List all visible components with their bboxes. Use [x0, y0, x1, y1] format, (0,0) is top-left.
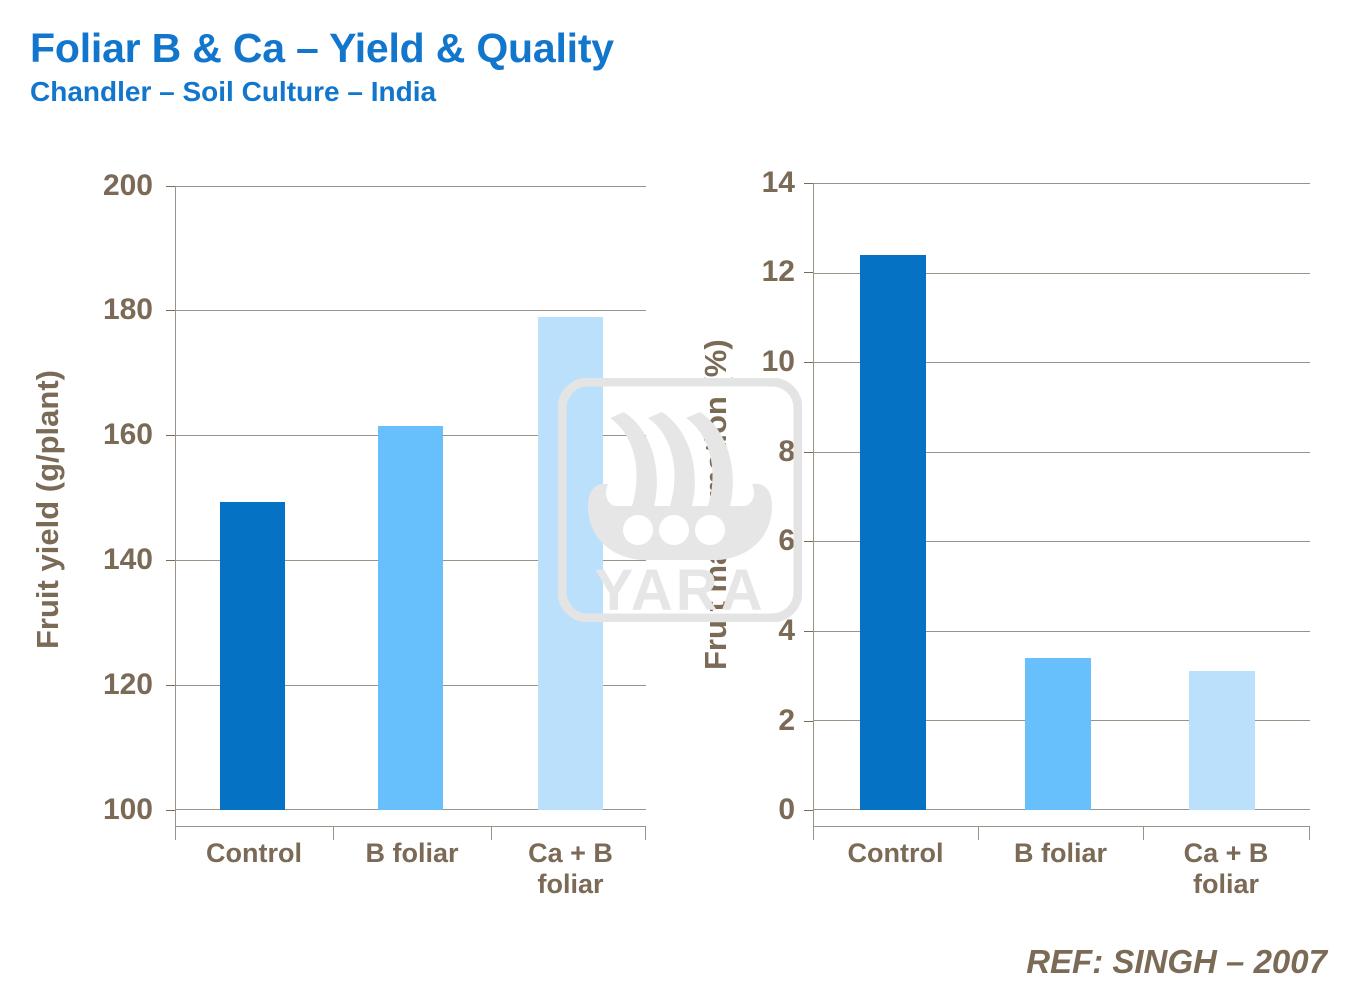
y-tick-label: 140 — [93, 543, 153, 577]
y-tick — [804, 541, 813, 542]
x-tick — [645, 826, 646, 840]
plot-area-right — [813, 183, 1310, 810]
y-tick — [166, 186, 175, 187]
gridline — [175, 186, 646, 187]
y-tick — [804, 362, 813, 363]
y-tick-label: 4 — [735, 614, 795, 648]
y-axis-title-left: Fruit yield (g/plant) — [30, 300, 66, 720]
y-tick — [804, 183, 813, 184]
plot-area-left — [175, 186, 646, 810]
y-tick — [166, 685, 175, 686]
bar-control — [860, 255, 926, 810]
slide-canvas: Foliar B & Ca – Yield & Quality Chandler… — [0, 0, 1363, 1001]
y-tick — [804, 721, 813, 722]
y-axis-line-right — [813, 183, 814, 826]
y-tick — [804, 452, 813, 453]
x-category-label-ca-b-foliar: Ca + B foliar — [498, 838, 643, 900]
y-tick-label: 120 — [93, 668, 153, 702]
y-tick-label: 200 — [93, 169, 153, 203]
gridline — [175, 310, 646, 311]
y-tick — [166, 810, 175, 811]
gridline — [813, 183, 1310, 184]
y-tick-label: 0 — [735, 793, 795, 827]
y-axis-title-right: Fruit malformation (%) — [698, 290, 734, 720]
x-tick — [1143, 826, 1144, 840]
x-category-label-control: Control — [175, 838, 333, 869]
y-tick-label: 6 — [735, 524, 795, 558]
y-tick-label: 160 — [93, 418, 153, 452]
y-tick — [804, 810, 813, 811]
bar-b-foliar — [1025, 658, 1091, 810]
bar-ca-b-foliar — [538, 317, 603, 810]
x-category-label-b-foliar: B foliar — [978, 838, 1143, 869]
x-tick — [1309, 826, 1310, 840]
x-category-label-b-foliar: B foliar — [333, 838, 491, 869]
y-tick-label: 2 — [735, 704, 795, 738]
y-tick-label: 100 — [93, 793, 153, 827]
y-tick — [804, 631, 813, 632]
y-tick — [166, 435, 175, 436]
y-tick — [166, 560, 175, 561]
y-tick-label: 180 — [93, 293, 153, 327]
x-category-label-ca-b-foliar: Ca + B foliar — [1150, 838, 1302, 900]
x-axis-line-right — [813, 826, 1310, 827]
y-tick — [804, 272, 813, 273]
y-axis-line-left — [175, 186, 176, 826]
y-tick-label: 12 — [735, 255, 795, 289]
x-axis-line-left — [175, 826, 646, 827]
y-tick-label: 14 — [735, 166, 795, 200]
x-category-label-control: Control — [813, 838, 978, 869]
y-tick — [166, 310, 175, 311]
reference-note: REF: SINGH – 2007 — [1026, 943, 1327, 981]
bar-ca-b-foliar — [1189, 671, 1255, 810]
chart-fruit-yield: Fruit yield (g/plant) 200 180 160 140 12… — [0, 0, 690, 920]
y-tick-label: 10 — [735, 345, 795, 379]
x-tick — [491, 826, 492, 840]
chart-fruit-malformation: Fruit malformation (%) 14 12 10 8 6 4 2 … — [690, 0, 1363, 920]
bar-b-foliar — [378, 426, 443, 810]
bar-control — [220, 502, 285, 810]
y-tick-label: 8 — [735, 435, 795, 469]
